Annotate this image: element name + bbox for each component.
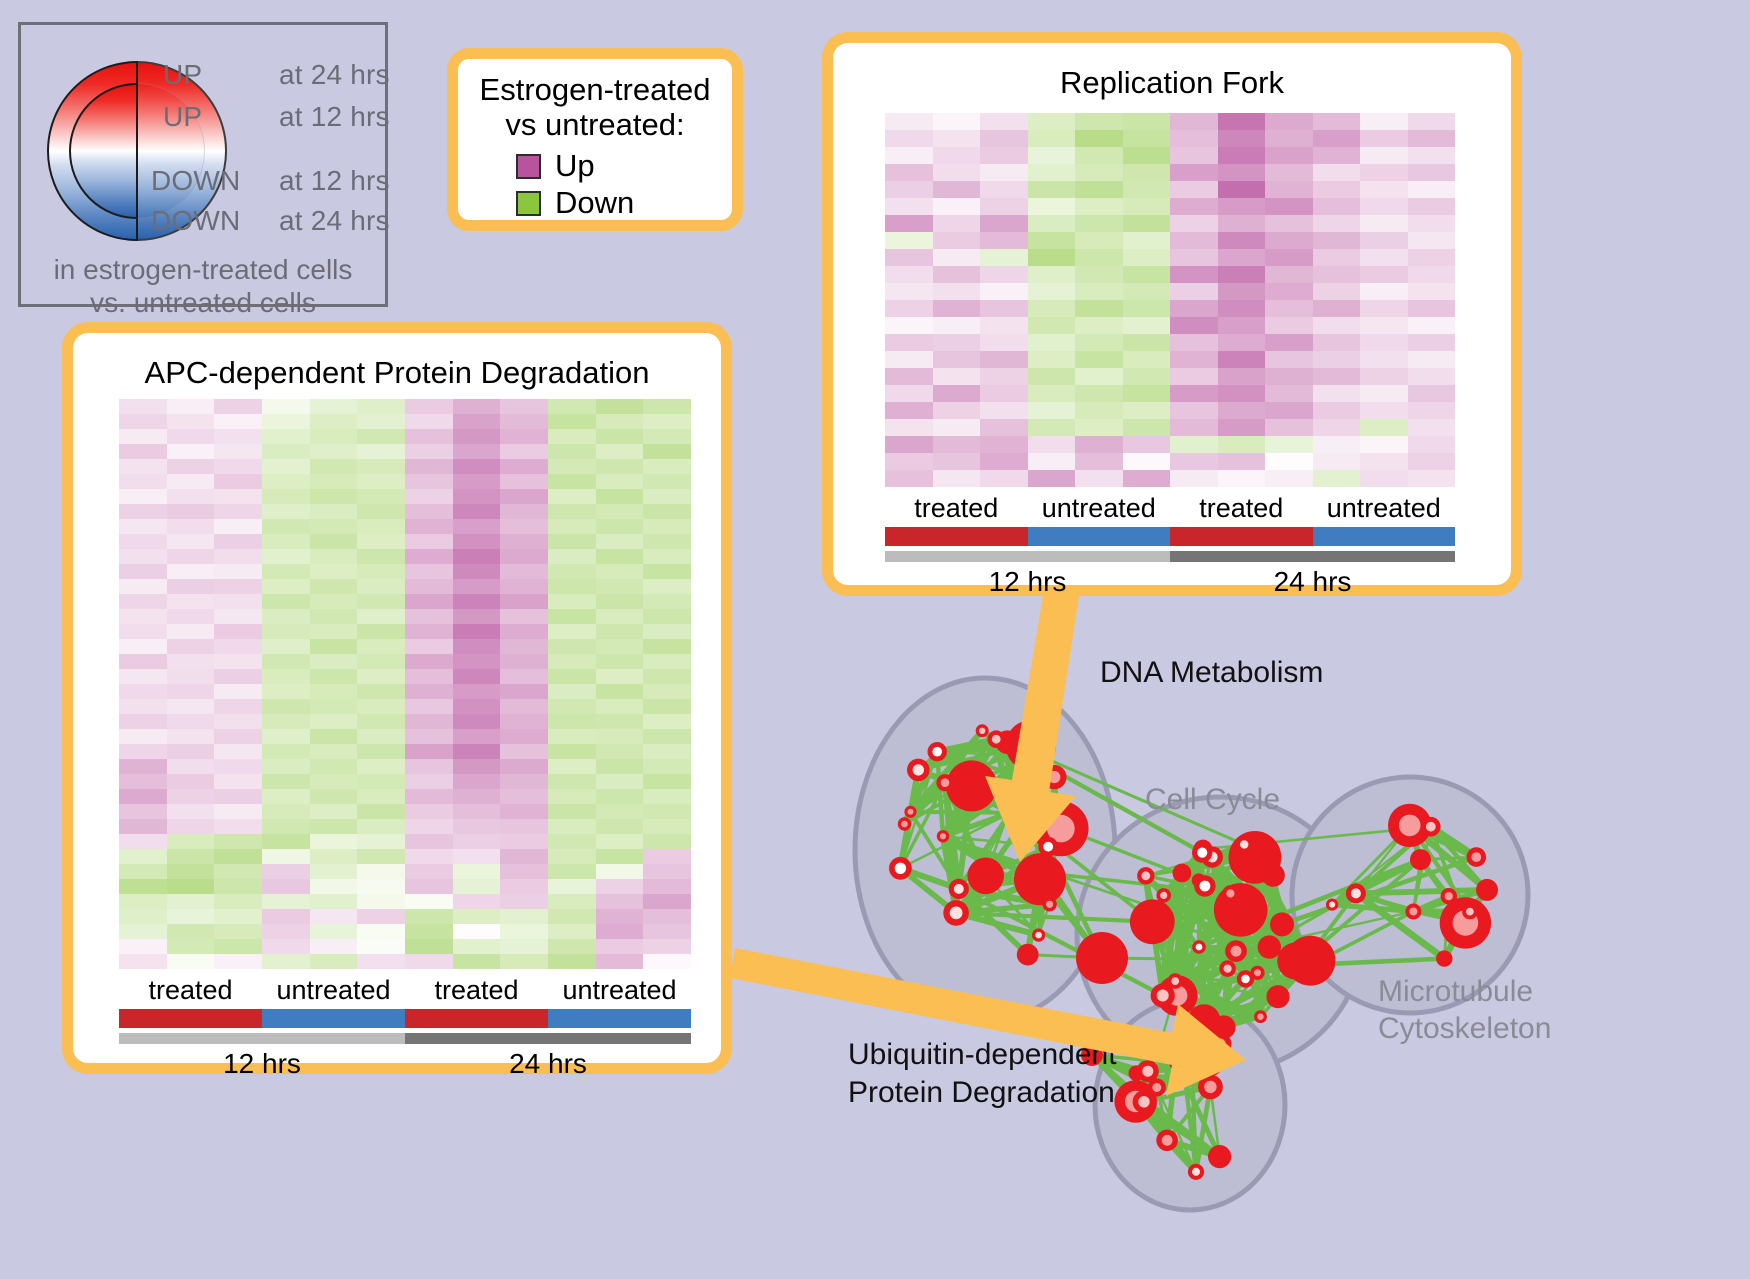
heatmap-cell	[167, 549, 215, 564]
heatmap-cell	[1170, 385, 1218, 402]
heatmap-cell	[214, 939, 262, 954]
heatmap-cell	[453, 804, 501, 819]
timepoint-label: 24 hrs	[1170, 566, 1455, 598]
network-node[interactable]	[1277, 942, 1314, 979]
network-node[interactable]	[1440, 897, 1491, 948]
key-time-down-12: at 12 hrs	[279, 165, 390, 196]
heatmap-cell	[1123, 147, 1171, 164]
heatmap-cell	[548, 789, 596, 804]
heatmap-cell	[980, 436, 1028, 453]
heatmap-cell	[548, 579, 596, 594]
heatmap-cell	[1028, 419, 1076, 436]
heatmap-cell	[1170, 436, 1218, 453]
heatmap-cell	[1265, 147, 1313, 164]
heatmap-cell	[885, 113, 933, 130]
panel-apc-degradation: APC-dependent Protein Degradation treate…	[62, 322, 732, 1074]
heatmap-cell	[453, 519, 501, 534]
heatmap-cell	[1408, 164, 1456, 181]
heatmap-cell	[1028, 113, 1076, 130]
cluster-label-microtubule: Microtubule	[1378, 975, 1533, 1009]
heatmap-cell	[167, 474, 215, 489]
network-node[interactable]	[1258, 935, 1281, 958]
heatmap-cell	[596, 414, 644, 429]
heatmap-cell	[1123, 300, 1171, 317]
heatmap-cell	[1360, 334, 1408, 351]
heatmap-cell	[1028, 198, 1076, 215]
network-node[interactable]	[1266, 985, 1289, 1008]
network-node[interactable]	[1031, 862, 1053, 884]
heatmap-cell	[357, 834, 405, 849]
network-node[interactable]	[1194, 875, 1215, 896]
network-node[interactable]	[1021, 770, 1038, 787]
heatmap-cell	[1360, 419, 1408, 436]
heatmap-cell	[357, 549, 405, 564]
heatmap-cell	[1075, 385, 1123, 402]
network-node[interactable]	[889, 857, 912, 880]
heatmap-cell	[933, 266, 981, 283]
heatmap-cell	[119, 459, 167, 474]
network-node[interactable]	[987, 730, 1005, 748]
heatmap-cell	[1408, 249, 1456, 266]
network-node[interactable]	[1236, 836, 1253, 853]
heatmap-cell	[310, 414, 358, 429]
heatmap-cell	[548, 459, 596, 474]
heatmap-cell	[1360, 368, 1408, 385]
key-time-up-12: at 12 hrs	[279, 101, 390, 132]
network-node[interactable]	[976, 724, 989, 737]
network-node[interactable]	[949, 879, 969, 899]
heatmap-cell	[357, 654, 405, 669]
heatmap-cell	[1170, 113, 1218, 130]
network-node[interactable]	[1222, 885, 1238, 901]
key-row-down-12: DOWNat 12 hrs	[151, 165, 390, 197]
heatmap-cell	[310, 429, 358, 444]
heatmap-cell	[453, 759, 501, 774]
heatmap-cell	[980, 232, 1028, 249]
heatmap-cell	[885, 130, 933, 147]
heatmap-cell	[453, 939, 501, 954]
key-word-up-24: UP	[163, 59, 279, 91]
heatmap-cell	[1170, 215, 1218, 232]
heatmap-cell	[405, 564, 453, 579]
heatmap-cell	[262, 579, 310, 594]
heatmap-cell	[643, 519, 691, 534]
heatmap-cell	[933, 419, 981, 436]
heatmap-cell	[980, 351, 1028, 368]
heatmap-cell	[643, 954, 691, 969]
heatmap-cell	[214, 549, 262, 564]
heatmap-cell	[1075, 283, 1123, 300]
key-time-up-24: at 24 hrs	[279, 59, 390, 90]
heatmap-cell	[357, 669, 405, 684]
network-node[interactable]	[1214, 883, 1268, 937]
network-node[interactable]	[928, 742, 947, 761]
heatmap-cell	[310, 519, 358, 534]
network-node[interactable]	[1476, 879, 1498, 901]
heatmap-cell	[1075, 215, 1123, 232]
network-node[interactable]	[1462, 904, 1478, 920]
heatmap-cell	[357, 444, 405, 459]
heatmap-cell	[1265, 130, 1313, 147]
heatmap-cell	[1218, 130, 1266, 147]
heatmap-cell	[548, 699, 596, 714]
heatmap-cell	[214, 504, 262, 519]
heatmap-cell	[262, 549, 310, 564]
heatmap-cell	[596, 744, 644, 759]
network-node[interactable]	[1410, 849, 1431, 870]
heatmap-cell	[596, 759, 644, 774]
heatmap-cell	[933, 130, 981, 147]
heatmap-cell	[405, 789, 453, 804]
heatmap-cell	[885, 351, 933, 368]
heatmap-cell	[1360, 436, 1408, 453]
heatmap-cell	[262, 714, 310, 729]
heatmap-cell	[500, 714, 548, 729]
heatmap-cell	[643, 429, 691, 444]
heatmap-cell	[643, 534, 691, 549]
heatmap-cell	[214, 864, 262, 879]
network-node[interactable]	[1156, 888, 1171, 903]
heatmap-cell	[453, 474, 501, 489]
heatmap-cell	[167, 459, 215, 474]
network-node[interactable]	[1225, 940, 1247, 962]
heatmap-cell	[1123, 385, 1171, 402]
network-node[interactable]	[943, 900, 969, 926]
network-node[interactable]	[898, 817, 911, 830]
heatmap-cell	[1028, 147, 1076, 164]
heatmap-cell	[500, 579, 548, 594]
network-node[interactable]	[1192, 940, 1206, 954]
heatmap-cell	[1218, 300, 1266, 317]
condition-color-segment	[405, 1009, 548, 1028]
heatmap-cell	[310, 789, 358, 804]
heatmap-cell	[1313, 266, 1361, 283]
heatmap-cell	[453, 924, 501, 939]
heatmap-cell	[357, 849, 405, 864]
network-node[interactable]	[1004, 806, 1017, 819]
heatmap-cell	[1028, 385, 1076, 402]
network-node[interactable]	[1436, 950, 1452, 966]
heatmap-cell	[1408, 300, 1456, 317]
heatmap-cell	[262, 909, 310, 924]
heatmap-cell	[167, 639, 215, 654]
network-node[interactable]	[907, 759, 930, 782]
heatmap-cell	[214, 564, 262, 579]
heatmap-cell	[214, 894, 262, 909]
heatmap-cell	[980, 130, 1028, 147]
heatmap-cell	[310, 669, 358, 684]
timepoint-colorbar-replication-fork	[885, 551, 1455, 562]
cluster-label-ubiquitin: Ubiquitin-dependent	[848, 1038, 1117, 1072]
heatmap-cell	[453, 879, 501, 894]
network-node[interactable]	[936, 774, 953, 791]
heatmap-cell	[310, 774, 358, 789]
heatmap-cell	[596, 534, 644, 549]
network-node[interactable]	[1021, 749, 1036, 764]
heatmap-cell	[357, 864, 405, 879]
up-swatch-icon	[516, 154, 541, 179]
heatmap-cell	[310, 504, 358, 519]
heatmap-cell	[119, 684, 167, 699]
heatmap-cell	[1265, 317, 1313, 334]
condition-labels-apc: treateduntreatedtreateduntreated	[119, 975, 691, 1006]
heatmap-cell	[1265, 419, 1313, 436]
heatmap-cell	[310, 864, 358, 879]
heatmap-cell	[548, 804, 596, 819]
heatmap-cell	[548, 759, 596, 774]
heatmap-cell	[596, 879, 644, 894]
heatmap-cell	[453, 954, 501, 969]
network-node[interactable]	[946, 760, 997, 811]
heatmap-cell	[500, 489, 548, 504]
heatmap-cell	[548, 819, 596, 834]
cluster-label-dna-metabolism: DNA Metabolism	[1100, 656, 1323, 690]
heatmap-cell	[1028, 368, 1076, 385]
heatmap-cell	[1265, 215, 1313, 232]
heatmap-cell	[933, 317, 981, 334]
heatmap-cell	[357, 579, 405, 594]
heatmap-cell	[405, 489, 453, 504]
heatmap-cell	[357, 789, 405, 804]
heatmap-cell	[548, 684, 596, 699]
heatmap-cell	[1123, 283, 1171, 300]
heatmap-cell	[1170, 334, 1218, 351]
heatmap-cell	[357, 819, 405, 834]
heatmap-cell	[643, 834, 691, 849]
network-node[interactable]	[1184, 1061, 1200, 1077]
heatmap-cell	[1170, 419, 1218, 436]
heatmap-cell	[933, 402, 981, 419]
network-node[interactable]	[1042, 765, 1066, 789]
network-node[interactable]	[1467, 847, 1487, 867]
network-node[interactable]	[1137, 867, 1154, 884]
heatmap-cell	[1313, 351, 1361, 368]
heatmap-cell	[167, 519, 215, 534]
condition-colorbar-replication-fork	[885, 527, 1455, 546]
condition-color-segment	[548, 1009, 691, 1028]
heatmap-cell	[453, 429, 501, 444]
network-node[interactable]	[904, 806, 916, 818]
network-node[interactable]	[1326, 899, 1338, 911]
heatmap-cell	[980, 419, 1028, 436]
network-node[interactable]	[1192, 842, 1212, 862]
heatmap-cell	[1218, 402, 1266, 419]
heatmap-cell	[453, 414, 501, 429]
heatmap-cell	[1313, 164, 1361, 181]
condition-label: treated	[119, 975, 262, 1006]
heatmap-cell	[119, 639, 167, 654]
heatmap-cell	[310, 744, 358, 759]
network-node[interactable]	[1421, 817, 1441, 837]
heatmap-cell	[262, 459, 310, 474]
heatmap-cell	[1170, 317, 1218, 334]
heatmap-cell	[453, 819, 501, 834]
heatmap-cell	[119, 789, 167, 804]
heatmap-cell	[119, 744, 167, 759]
heatmap-cell	[1360, 402, 1408, 419]
network-node[interactable]	[1250, 966, 1264, 980]
network-node[interactable]	[1346, 883, 1366, 903]
heatmap-cell	[500, 729, 548, 744]
heatmap-cell	[548, 834, 596, 849]
heatmap-cell	[214, 639, 262, 654]
heatmap-cell	[933, 470, 981, 487]
heatmap-cell	[500, 864, 548, 879]
heatmap-cell	[885, 453, 933, 470]
network-node[interactable]	[1262, 864, 1285, 887]
heatmap-cell	[119, 954, 167, 969]
network-node[interactable]	[1208, 1145, 1231, 1168]
network-node[interactable]	[1270, 912, 1294, 936]
heatmap-cell	[643, 774, 691, 789]
heatmap-cell	[214, 624, 262, 639]
network-node[interactable]	[1156, 1130, 1178, 1152]
heatmap-cell	[119, 414, 167, 429]
heatmap-cell	[357, 564, 405, 579]
heatmap-cell	[980, 181, 1028, 198]
network-node[interactable]	[1188, 1164, 1204, 1180]
heatmap-cell	[1218, 385, 1266, 402]
heatmap-cell	[933, 368, 981, 385]
network-node[interactable]	[1405, 904, 1421, 920]
heatmap-cell	[167, 699, 215, 714]
network-node[interactable]	[1017, 944, 1039, 966]
heatmap-cell	[933, 300, 981, 317]
heatmap-block-apc: treateduntreatedtreateduntreated 12 hrs2…	[119, 399, 691, 1080]
heatmap-cell	[643, 684, 691, 699]
network-edge	[911, 812, 1011, 813]
heatmap-cell	[500, 879, 548, 894]
heatmap-cell	[1123, 215, 1171, 232]
heatmap-cell	[643, 504, 691, 519]
key-word-down-12: DOWN	[151, 165, 279, 197]
heatmap-cell	[167, 879, 215, 894]
heatmap-cell	[167, 819, 215, 834]
heatmap-cell	[500, 684, 548, 699]
network-node[interactable]	[1133, 1090, 1156, 1113]
heatmap-cell	[980, 249, 1028, 266]
network-node[interactable]	[1198, 1075, 1223, 1100]
heatmap-cell	[214, 849, 262, 864]
network-node[interactable]	[1076, 932, 1128, 984]
heatmap-cell	[453, 564, 501, 579]
heatmap-cell	[933, 334, 981, 351]
network-node[interactable]	[1169, 1056, 1183, 1070]
heatmap-cell	[119, 909, 167, 924]
heatmap-cell	[500, 639, 548, 654]
heatmap-cell	[1218, 266, 1266, 283]
network-node[interactable]	[1144, 1043, 1160, 1059]
heatmap-cell	[1123, 453, 1171, 470]
heatmap-cell	[1028, 266, 1076, 283]
heatmap-cell	[1170, 147, 1218, 164]
network-node[interactable]	[1219, 960, 1236, 977]
heatmap-cell	[596, 444, 644, 459]
network-node[interactable]	[937, 830, 949, 842]
heatmap-cell	[262, 489, 310, 504]
heatmap-cell	[1218, 368, 1266, 385]
heatmap-cell	[167, 669, 215, 684]
heatmap-cell	[453, 579, 501, 594]
heatmap-cell	[1028, 402, 1076, 419]
network-node[interactable]	[1209, 1033, 1232, 1056]
heatmap-cell	[1218, 317, 1266, 334]
heatmap-cell	[405, 864, 453, 879]
cluster-label-cell-cycle: Cell Cycle	[1145, 783, 1280, 817]
heatmap-cell	[548, 714, 596, 729]
heatmap-cell	[214, 399, 262, 414]
heatmap-cell	[357, 744, 405, 759]
heatmap-cell	[1170, 266, 1218, 283]
heatmap-cell	[1360, 164, 1408, 181]
network-node[interactable]	[1173, 864, 1192, 883]
network-node[interactable]	[1137, 1060, 1159, 1082]
disc-divider-line	[136, 61, 138, 241]
heatmap-cell	[500, 669, 548, 684]
heatmap-cell	[1170, 181, 1218, 198]
heatmap-cell	[596, 834, 644, 849]
heatmap-cell	[500, 924, 548, 939]
heatmap-cell	[405, 714, 453, 729]
heatmap-cell	[500, 414, 548, 429]
heatmap-cell	[1075, 436, 1123, 453]
heatmap-cell	[1360, 351, 1408, 368]
heatmap-cell	[167, 774, 215, 789]
heatmap-cell	[357, 879, 405, 894]
heatmap-cell	[1028, 334, 1076, 351]
network-node[interactable]	[1032, 929, 1045, 942]
condition-labels-replication-fork: treateduntreatedtreateduntreated	[885, 493, 1455, 524]
network-node[interactable]	[1130, 899, 1175, 944]
heatmap-cell	[119, 729, 167, 744]
network-node[interactable]	[1042, 897, 1056, 911]
heatmap-cell	[980, 283, 1028, 300]
network-node[interactable]	[1038, 837, 1058, 857]
heatmap-cell	[214, 684, 262, 699]
heatmap-cell	[885, 215, 933, 232]
heatmap-cell	[643, 564, 691, 579]
heatmap-cell	[643, 744, 691, 759]
heatmap-cell	[262, 819, 310, 834]
heatmap-cell	[119, 669, 167, 684]
heatmap-cell	[214, 879, 262, 894]
heatmap-cell	[643, 594, 691, 609]
heatmap-cell	[933, 385, 981, 402]
heatmap-cell	[1265, 300, 1313, 317]
heatmap-cell	[310, 699, 358, 714]
network-node[interactable]	[967, 858, 1004, 895]
heatmap-cell	[500, 564, 548, 579]
heatmap-cell	[310, 639, 358, 654]
heatmap-cell	[1028, 453, 1076, 470]
pathway-network-diagram: DNA Metabolism Cell Cycle Microtubule Cy…	[790, 600, 1750, 1279]
heatmap-cell	[1313, 368, 1361, 385]
condition-color-segment	[1313, 527, 1456, 546]
heatmap-cell	[596, 819, 644, 834]
heatmap-cell	[1218, 283, 1266, 300]
heatmap-cell	[596, 684, 644, 699]
heatmap-cell	[357, 414, 405, 429]
heatmap-cell	[357, 534, 405, 549]
heatmap-cell	[214, 444, 262, 459]
network-node[interactable]	[1441, 888, 1457, 904]
network-node[interactable]	[1254, 1010, 1267, 1023]
heatmap-cell	[596, 459, 644, 474]
heatmap-cell	[357, 624, 405, 639]
network-node[interactable]	[1167, 973, 1183, 989]
heatmap-cell	[357, 639, 405, 654]
heatmap-cell	[310, 459, 358, 474]
